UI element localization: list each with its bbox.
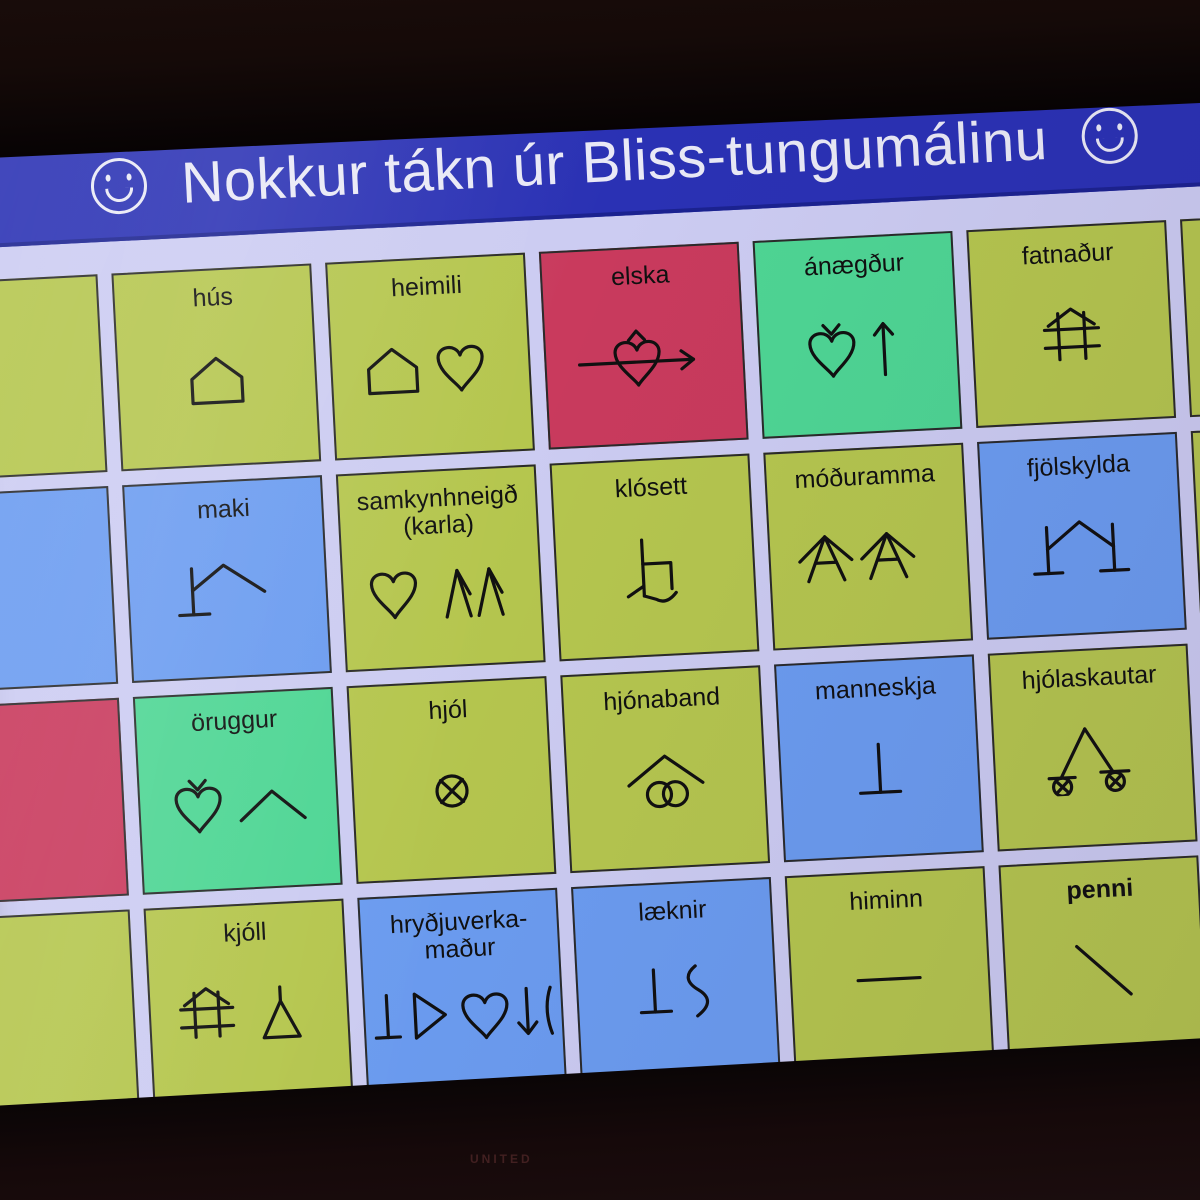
bliss-card-elska[interactable]: elska bbox=[539, 242, 749, 450]
photo-of-tv-screen: Nokkur tákn úr Bliss-tungumálinu húsheim… bbox=[0, 0, 1200, 1200]
smiley-icon bbox=[90, 157, 149, 216]
bliss-card-penni[interactable]: penni bbox=[998, 855, 1200, 1063]
bliss-card-hry-juverka-ma-ur[interactable]: hryðjuverka-maður bbox=[357, 888, 567, 1096]
bliss-symbol-none-icon bbox=[0, 714, 120, 897]
bliss-card-kl-sett[interactable]: klósett bbox=[550, 454, 760, 662]
bliss-symbol-diagonal-stroke-icon bbox=[1009, 899, 1200, 1055]
bliss-card-st-ll[interactable]: stóll bbox=[1191, 421, 1200, 629]
bliss-card-heimaf-t[interactable]: heimaföt bbox=[1180, 209, 1200, 417]
bliss-card-clipped[interactable] bbox=[0, 274, 107, 482]
bliss-card-clipped[interactable] bbox=[0, 698, 129, 906]
bliss-symbol-person-roof-icon bbox=[132, 519, 323, 675]
bliss-card-word: heimaföt bbox=[1189, 226, 1200, 262]
bliss-symbol-none-icon bbox=[0, 926, 131, 1109]
bliss-card-clipped[interactable] bbox=[0, 909, 140, 1117]
bliss-card-hj-naband[interactable]: hjónaband bbox=[560, 665, 770, 873]
bliss-card-word: samkynhneigð (karla) bbox=[345, 481, 531, 544]
smiley-icon bbox=[1080, 107, 1139, 166]
bliss-card-maki[interactable]: maki bbox=[122, 475, 332, 683]
bliss-symbol-none-icon bbox=[0, 291, 99, 474]
bliss-symbol-arrow-heart-arrow-icon bbox=[549, 285, 740, 441]
presentation-slide: Nokkur tákn úr Bliss-tungumálinu húsheim… bbox=[0, 24, 1200, 1150]
bliss-card-samkynhneig-karla[interactable]: samkynhneigð (karla) bbox=[336, 464, 546, 672]
bliss-symbol-heart-two-males-icon bbox=[347, 535, 537, 664]
bliss-card-heimili[interactable]: heimili bbox=[325, 253, 535, 461]
bliss-symbol-grid: húsheimili elska ánægður fatnaður bbox=[0, 212, 1200, 1118]
bliss-card-himinn[interactable]: himinn bbox=[785, 866, 995, 1074]
bliss-card-l-knir[interactable]: læknir bbox=[571, 877, 781, 1085]
bliss-symbol-house-heart-icon bbox=[335, 296, 526, 452]
bliss-symbol-heart-caron-roof-icon bbox=[143, 730, 334, 886]
bliss-symbol-person-flag-heart-down-query-icon bbox=[369, 958, 559, 1087]
bliss-card-ruggur[interactable]: öruggur bbox=[133, 687, 343, 895]
bliss-symbol-wheel-icon bbox=[357, 719, 548, 875]
bliss-card-m-uramma[interactable]: móðuramma bbox=[763, 443, 973, 651]
bliss-symbol-line-top-icon bbox=[795, 909, 986, 1065]
bliss-symbol-house-icon bbox=[122, 307, 313, 463]
bliss-card-n-g-ur[interactable]: ánægður bbox=[753, 231, 963, 439]
bliss-card-fatna-ur[interactable]: fatnaður bbox=[966, 220, 1176, 428]
bliss-card-h-s[interactable]: hús bbox=[111, 263, 321, 471]
bliss-symbol-none-icon bbox=[0, 502, 110, 685]
bliss-symbol-roof-rings-icon bbox=[570, 709, 761, 865]
bliss-card-fj-lskylda[interactable]: fjölskylda bbox=[977, 432, 1187, 640]
bliss-card-manneskja[interactable]: manneskja bbox=[774, 654, 984, 862]
bliss-card-clipped[interactable] bbox=[0, 486, 118, 694]
bliss-symbol-family-roof-icon bbox=[987, 475, 1178, 631]
bliss-card-hj-laskautar[interactable]: hjólaskautar bbox=[988, 644, 1198, 852]
bliss-symbol-clothing-heart-line-icon bbox=[1190, 253, 1200, 409]
bliss-card-word: hryðjuverka-maður bbox=[366, 904, 552, 967]
bliss-card-hj-l[interactable]: hjól bbox=[347, 676, 557, 884]
bliss-symbol-toilet-icon bbox=[560, 497, 751, 653]
bliss-symbol-person-icon bbox=[784, 698, 975, 854]
bliss-card-kj-ll[interactable]: kjóll bbox=[144, 899, 354, 1107]
bliss-symbol-two-females-parent-icon bbox=[773, 486, 964, 642]
tv-brand-logo: UNITED bbox=[470, 1152, 533, 1166]
bliss-symbol-clothing-dress-icon bbox=[154, 942, 345, 1098]
bliss-symbol-person-snake-icon bbox=[581, 920, 772, 1076]
bliss-symbol-heart-caron-up-icon bbox=[763, 274, 954, 430]
bliss-symbol-skates-icon bbox=[998, 687, 1189, 843]
bliss-symbol-clothing-icon bbox=[976, 263, 1167, 419]
